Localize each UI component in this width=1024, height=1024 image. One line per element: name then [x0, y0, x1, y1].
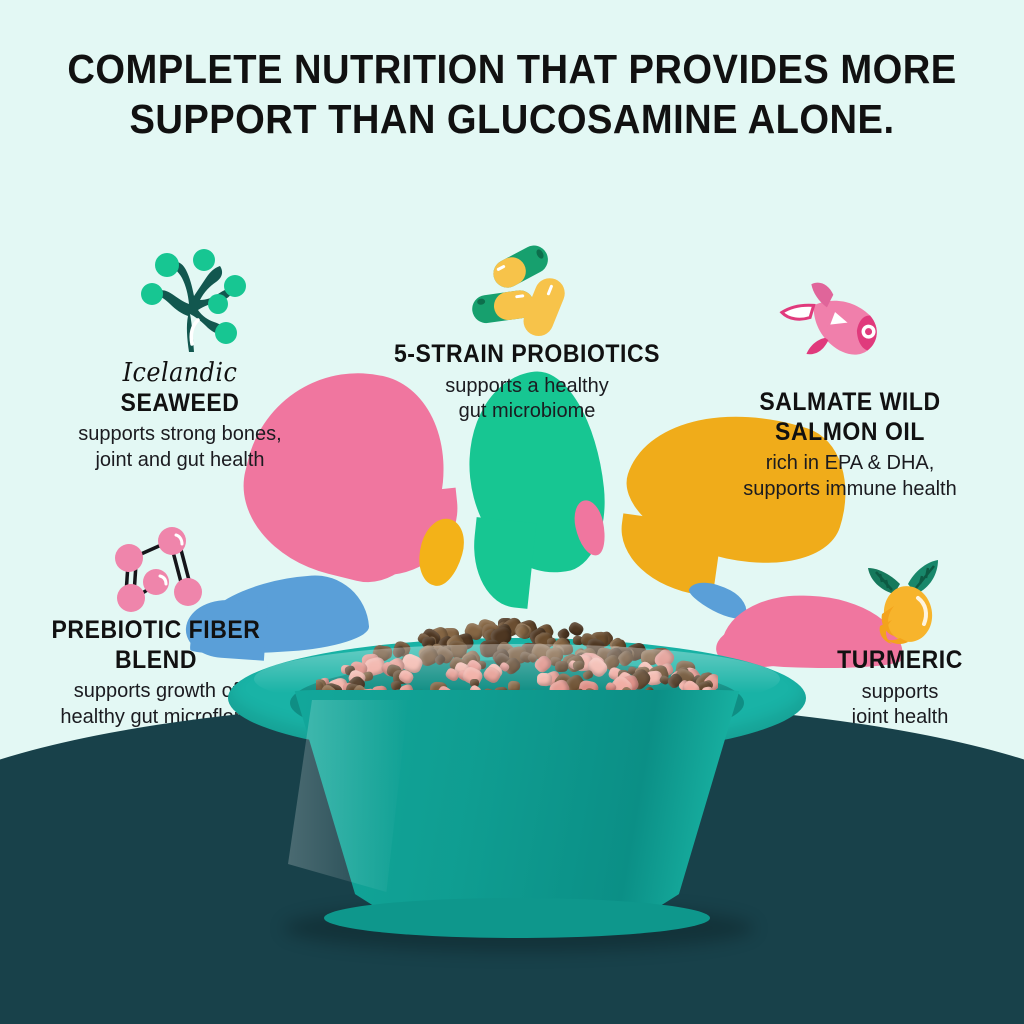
- dog-food-bowl: [228, 612, 806, 942]
- page-title: COMPLETE NUTRITION THAT PROVIDES MORE SU…: [36, 44, 988, 144]
- fiber-desc-1: supports growth of: [74, 680, 239, 702]
- seaweed-icon: [132, 244, 248, 356]
- headline-line-2: SUPPORT THAN GLUCOSAMINE ALONE.: [36, 94, 988, 144]
- salmon-desc-2: supports immune health: [743, 478, 956, 500]
- probiotic-capsules-icon: [456, 234, 572, 340]
- probiotics-desc-1: supports a healthy: [445, 375, 608, 397]
- probiotics-desc-2: gut microbiome: [459, 400, 596, 422]
- seaweed-title: SEAWEED: [42, 389, 318, 419]
- benefit-salmon-oil: SALMATE WILD SALMON OIL rich in EPA & DH…: [690, 388, 1010, 502]
- salmon-title-line-2: SALMON OIL: [703, 418, 997, 448]
- bowl-foot: [324, 898, 710, 938]
- seaweed-desc-2: joint and gut health: [95, 449, 264, 471]
- salmon-title-line-1: SALMATE WILD: [703, 388, 997, 418]
- salmon-fish-icon: [778, 278, 886, 380]
- salmon-desc-1: rich in EPA & DHA,: [766, 452, 935, 474]
- seaweed-script-title: Icelandic: [123, 358, 238, 388]
- turmeric-title: TURMERIC: [799, 646, 1001, 676]
- infographic-canvas: COMPLETE NUTRITION THAT PROVIDES MORE SU…: [0, 0, 1024, 1024]
- benefit-seaweed: Icelandic SEAWEED supports strong bones,…: [30, 358, 330, 473]
- turmeric-desc-1: supports: [862, 681, 939, 703]
- molecule-icon: [98, 524, 208, 628]
- benefit-probiotics: 5-STRAIN PROBIOTICS supports a healthy g…: [382, 340, 672, 425]
- turmeric-root-icon: [856, 548, 960, 652]
- probiotics-title: 5-STRAIN PROBIOTICS: [394, 340, 661, 370]
- seaweed-desc-1: supports strong bones,: [78, 423, 281, 445]
- headline-line-1: COMPLETE NUTRITION THAT PROVIDES MORE: [67, 46, 956, 92]
